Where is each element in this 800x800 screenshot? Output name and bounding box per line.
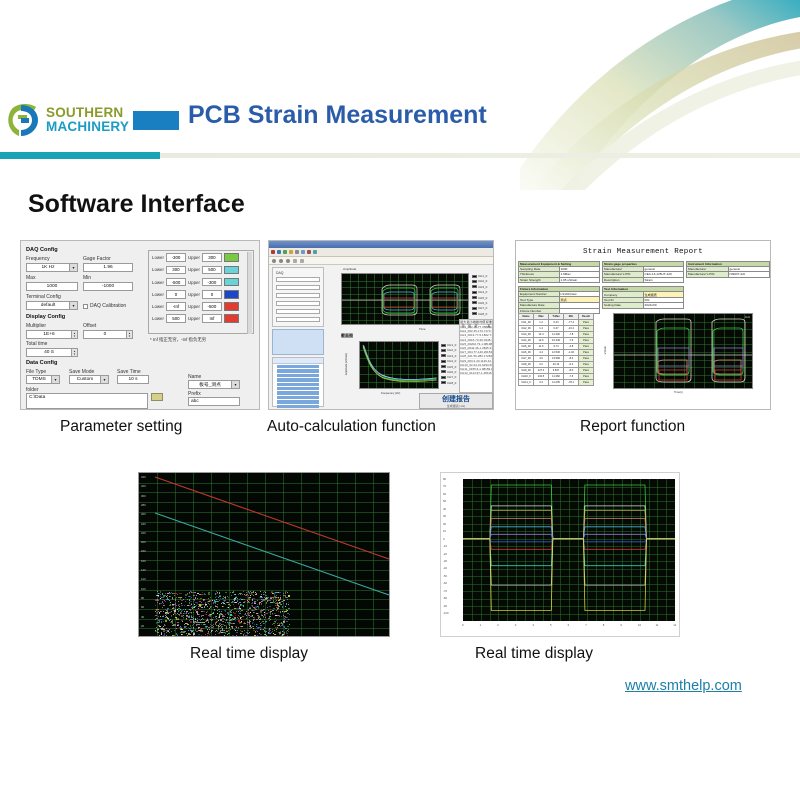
label-offset: Offset	[83, 323, 96, 329]
report-chart-xlabel: Time(s)	[674, 391, 683, 394]
y-tick-label: -60	[443, 581, 447, 585]
table-cell: 15.73	[471, 338, 479, 341]
x-tick-label: 3	[515, 623, 517, 627]
value-total-time: 40 S	[27, 350, 71, 355]
table-cell: CH3_00	[460, 333, 471, 336]
limit-lower-value[interactable]: 500	[166, 314, 186, 323]
x-tick-label: 11	[656, 623, 659, 627]
report-block-instrument: Instrument InformationManufacturergenera…	[686, 261, 770, 278]
table-cell: -146.26	[477, 350, 487, 353]
label-daq-calibration: DAQ Calibration	[90, 303, 126, 309]
limit-upper-value[interactable]: -500	[202, 302, 222, 311]
input-gage-factor[interactable]: 1.96	[83, 263, 133, 272]
input-folder-path[interactable]: C:\Data	[26, 393, 148, 409]
channel-tree-cell[interactable]	[277, 409, 319, 410]
limit-lower-value[interactable]: 300	[166, 266, 186, 275]
channel-tree-cell[interactable]	[277, 387, 319, 390]
settings-pane-title: DAQ	[276, 271, 283, 275]
legend-swatch	[472, 307, 477, 310]
legend-label: CH6_0	[447, 370, 456, 374]
settings-field-4[interactable]	[276, 301, 320, 306]
logo-mark-icon	[6, 101, 42, 139]
group-daq-config: DAQ Config	[26, 247, 58, 253]
create-report-sublabel: 生成报表(.xls)	[447, 404, 466, 408]
table-cell: 116.64	[487, 371, 493, 374]
channel-tree-cell[interactable]	[277, 365, 319, 368]
legend-swatch	[472, 275, 477, 278]
input-prefix[interactable]: abc	[188, 397, 240, 406]
legend-swatch	[441, 376, 446, 379]
legend-item[interactable]: CH2_0	[441, 348, 456, 352]
limits-note: * Inf 指正无穷，-Inf 指负无穷	[150, 337, 206, 343]
chart2-plot-area[interactable]	[463, 479, 675, 621]
channel-tree-cell[interactable]	[277, 400, 319, 403]
legend-item[interactable]: CH4_0	[472, 290, 487, 294]
x-tick-label: 9	[620, 623, 622, 627]
caption-report-function: Report function	[580, 418, 685, 436]
legend-item[interactable]: CH6_0	[441, 370, 456, 374]
title-accent-chip	[133, 111, 179, 130]
spinner-icon[interactable]: ▴▾	[71, 331, 77, 338]
chevron-down-icon[interactable]: ▾	[69, 264, 77, 271]
toolbar-icon-3[interactable]	[283, 250, 287, 254]
input-save-time[interactable]: 10 s	[117, 375, 149, 384]
results-table[interactable]: 最大值最小值峰峰值均值标准差 CH1_002.45-77.3580.02-19.…	[459, 319, 493, 393]
report-value: NI9237-2AI	[728, 272, 770, 277]
limit-lower-label: Lower	[152, 280, 164, 285]
legend-label: CH4_0	[447, 359, 456, 363]
report-block-test: Test InformationCompany生成报表Test ID001Set…	[602, 286, 684, 309]
x-tick-label: 6	[568, 623, 570, 627]
legend-label: CH4_0	[478, 290, 487, 294]
value-frequency: 1K Hz	[27, 265, 69, 270]
report-data-table[interactable]: NameMaxT-MaxMinResultCH1_001.40.44-77.4P…	[518, 313, 594, 386]
limit-color-swatch[interactable]	[224, 253, 239, 262]
table-cell: -1.08	[478, 367, 485, 370]
limit-lower-value[interactable]: -Inf	[166, 302, 186, 311]
table-cell: 202.73	[471, 342, 480, 345]
report-value: 1.65 uStrain	[559, 277, 600, 282]
y-tick-label: 30	[443, 514, 446, 518]
legend-item[interactable]: CH2_0	[472, 279, 487, 283]
report-block-straingage: Strain gage propertiesManufacturergenera…	[602, 261, 684, 283]
limit-upper-value[interactable]: 300	[202, 253, 222, 262]
table-cell: 114.97	[471, 371, 480, 374]
table-cell: -1.48	[480, 371, 487, 374]
legend-swatch	[472, 280, 477, 283]
x-tick-label: 0	[462, 623, 464, 627]
report-value: Strain	[643, 277, 684, 282]
results-col-header: 标准差	[486, 320, 492, 324]
table-cell: 153.91	[487, 350, 493, 353]
chevron-down-icon[interactable]: ▾	[69, 302, 77, 309]
channel-tree-cell[interactable]	[277, 391, 319, 394]
y-tick-label: -70	[443, 589, 447, 593]
section-title: Software Interface	[28, 190, 245, 219]
table-cell: 155.6	[471, 367, 479, 370]
y-tick-label: 20	[443, 522, 446, 526]
limit-upper-value[interactable]: Inf	[202, 314, 222, 323]
input-max[interactable]: 1000	[26, 282, 78, 291]
input-terminal-config[interactable]: default ▾	[26, 301, 78, 310]
legend-label: CH5_0	[478, 296, 487, 300]
limit-upper-value[interactable]: -300	[202, 278, 222, 287]
browse-folder-icon[interactable]	[151, 393, 163, 401]
slide-root: SOUTHERN MACHINERY PCB Strain Measuremen…	[0, 0, 800, 800]
ribbon-stop-icon[interactable]	[279, 259, 283, 263]
value-save-mode: Custom	[70, 377, 100, 382]
table-cell: CH10_0	[460, 363, 471, 366]
limits-table[interactable]: Lower-300Upper300Lower300Upper500Lower-5…	[148, 250, 254, 334]
table-cell: CH4_00	[460, 338, 471, 341]
value-file-type: TDMS	[27, 377, 51, 382]
waveform-chart-top[interactable]	[341, 273, 469, 325]
legend-item[interactable]: CH1_0	[441, 343, 456, 347]
limit-upper-label: Upper	[188, 292, 200, 297]
limit-upper-value[interactable]: 500	[202, 266, 222, 275]
channel-tree-cell[interactable]	[277, 396, 319, 399]
table-cell: 80.02	[485, 325, 493, 328]
input-name[interactable]: 板号_测点 ▾	[188, 380, 240, 389]
legend-label: CH2_0	[478, 279, 487, 283]
label-terminal-config: Terminal Config	[26, 294, 61, 300]
toolbar-icon-7[interactable]	[307, 250, 311, 254]
app-ribbon[interactable]	[269, 257, 493, 265]
y-tick-label: 40	[443, 507, 446, 511]
limit-upper-value[interactable]: 0	[202, 290, 222, 299]
logo-text-line1: SOUTHERN	[46, 106, 129, 120]
channel-tree-cell[interactable]	[277, 378, 319, 381]
decay-chart-legend[interactable]: CH1_0CH2_0CH3_0CH4_0CH5_0CH6_0CH7_0CH8_0	[441, 343, 456, 385]
legend-item[interactable]: CH3_0	[472, 285, 487, 289]
toolbar-icon-4[interactable]	[289, 250, 293, 254]
legend-swatch	[472, 312, 477, 315]
panel-auto-calculation[interactable]: DAQ	[268, 240, 494, 410]
report-key: Strain Strength	[519, 277, 560, 282]
input-save-mode[interactable]: Custom ▾	[69, 375, 109, 384]
report-data-cell: CH11_0	[519, 380, 534, 386]
caption-parameter-setting: Parameter setting	[60, 418, 182, 436]
y-tick-label: 10	[443, 529, 446, 533]
table-cell: 22.71	[485, 333, 493, 336]
label-max: Max	[26, 275, 35, 281]
x-tick-label: 10	[638, 623, 641, 627]
label-gage-factor: Gage Factor	[83, 256, 111, 262]
legend-item[interactable]: CH5_0	[441, 365, 456, 369]
settings-field-5[interactable]	[276, 309, 320, 314]
table-cell: -5.18	[479, 333, 486, 336]
table-cell: -31.92	[477, 363, 486, 366]
panel-report-function[interactable]: Strain Measurement Report Measurement Eq…	[515, 240, 771, 410]
report-key: Description	[603, 277, 644, 282]
table-cell: 45.37	[485, 346, 493, 349]
table-row: Setting Date2021/2/9	[603, 303, 684, 308]
table-cell: 13.77	[471, 333, 479, 336]
table-cell: 198.43	[487, 342, 493, 345]
ribbon-pause-icon[interactable]	[286, 259, 290, 263]
limit-upper-label: Upper	[188, 280, 200, 285]
toolbar-icon-2[interactable]	[277, 250, 281, 254]
limit-lower-label: Lower	[152, 255, 164, 260]
legend-swatch	[441, 370, 446, 373]
company-logo: SOUTHERN MACHINERY	[6, 98, 124, 142]
legend-item[interactable]: CH7_0	[472, 306, 487, 310]
legend-item[interactable]: CH8_0	[441, 381, 456, 385]
x-tick-label: 4	[532, 623, 534, 627]
toolbar-icon-8[interactable]	[313, 250, 317, 254]
decay-chart[interactable]	[359, 341, 439, 389]
caption-realtime-1: Real time display	[190, 645, 308, 663]
group-display-config: Display Config	[26, 314, 65, 320]
value-offset: 0	[84, 332, 126, 337]
x-tick-label: 8	[603, 623, 605, 627]
report-key: Manufacturer's P/N	[687, 272, 729, 277]
value-multiplier: 1E+6	[27, 332, 71, 337]
legend-swatch	[441, 381, 446, 384]
limit-color-swatch[interactable]	[224, 302, 239, 311]
limit-row[interactable]: Lower-500Upper-300	[152, 277, 250, 288]
table-row[interactable]: CH12_0114.97-1.48116.6460.81127.05	[460, 371, 492, 375]
legend-item[interactable]: CH6_0	[472, 301, 487, 305]
limit-lower-value[interactable]: -500	[166, 278, 186, 287]
x-tick-label: 7	[585, 623, 587, 627]
table-row: Strain Strength1.65 uStrain	[519, 277, 600, 282]
y-tick-label: -50	[443, 574, 447, 578]
table-cell: 33.69	[485, 363, 493, 366]
limit-row[interactable]: Lower-300Upper300	[152, 252, 250, 263]
x-tick-label: 2	[497, 623, 499, 627]
header-rule-teal	[0, 152, 160, 159]
checkbox-daq-calibration[interactable]: DAQ Calibration	[83, 303, 126, 309]
chart-top-ylabel: Amplitude	[343, 267, 356, 271]
report-value: 2021/2/9	[643, 303, 684, 308]
y-tick-label: -40	[443, 566, 447, 570]
table-row[interactable]: CH11_03.411.235-78.1Pass	[519, 380, 594, 386]
spinner-icon[interactable]: ▴▾	[71, 349, 77, 356]
app-menubar[interactable]	[269, 241, 493, 248]
chart-realtime-pulses[interactable]: 80706050403020100-10-20-30-40-50-60-70-8…	[440, 472, 680, 637]
checkbox-box-icon[interactable]	[83, 304, 88, 309]
y-tick-label: 70	[443, 484, 446, 488]
app-settings-pane[interactable]: DAQ	[272, 267, 324, 327]
y-tick-label: 80	[443, 477, 446, 481]
table-cell: -1.38	[479, 346, 486, 349]
label-multiplier: Multiplier	[26, 323, 46, 329]
logo-text-line2: MACHINERY	[46, 120, 129, 134]
legend-label: CH7_0	[447, 375, 456, 379]
y-tick-label: -100	[443, 611, 449, 615]
table-cell: CH6_00	[460, 346, 471, 349]
ribbon-open-icon[interactable]	[300, 259, 304, 263]
legend-item[interactable]: CH1_0	[472, 274, 487, 278]
table-cell: CH9_00	[460, 359, 471, 362]
legend-item[interactable]: CH4_0	[441, 359, 456, 363]
table-cell: 284.33	[487, 354, 493, 357]
channel-tree-header	[273, 358, 323, 364]
legend-swatch	[441, 344, 446, 347]
channel-tree-cell[interactable]	[277, 369, 319, 372]
report-data-cell: 11.235	[549, 380, 564, 386]
limit-lower-label: Lower	[152, 316, 164, 321]
create-report-button[interactable]: 创建报告 生成报表(.xls)	[419, 393, 493, 409]
report-chart-ylabel: uStrain	[604, 346, 607, 354]
toolbar-icon-6[interactable]	[301, 250, 305, 254]
app-channel-summary[interactable]	[272, 329, 324, 355]
legend-item[interactable]: CH3_0	[441, 354, 456, 358]
limit-row[interactable]: Lower0Upper0	[152, 289, 250, 300]
table-cell: 46.42	[483, 359, 491, 362]
table-cell: -13.14	[491, 359, 493, 362]
page-title: PCB Strain Measurement	[188, 101, 487, 130]
legend-label: CH8_0	[447, 381, 456, 385]
legend-label: CH3_0	[447, 354, 456, 358]
table-cell: CH1_00	[460, 325, 471, 328]
limit-color-swatch[interactable]	[224, 290, 239, 299]
report-block-equipment: Measurement Equipment & SettingSampling …	[518, 261, 600, 283]
ribbon-save-icon[interactable]	[293, 259, 297, 263]
input-file-type[interactable]: TDMS ▾	[26, 375, 60, 384]
limits-scrollbar[interactable]	[247, 252, 252, 334]
chart-noise-band	[155, 591, 290, 637]
table-cell: -36.03	[479, 338, 488, 341]
ribbon-run-icon[interactable]	[272, 259, 276, 263]
caption-realtime-2: Real time display	[475, 645, 593, 663]
chevron-down-icon[interactable]: ▾	[51, 376, 59, 383]
input-min[interactable]: -1000	[83, 282, 133, 291]
spinner-icon[interactable]: ▴▾	[126, 331, 132, 338]
toolbar-icon-5[interactable]	[295, 250, 299, 254]
table-cell: -280.17	[477, 354, 487, 357]
table-row: Manufacturer's P/NNI9237-2AI	[687, 272, 770, 277]
x-tick-label: 5	[550, 623, 552, 627]
channel-tree-cell[interactable]	[277, 374, 319, 377]
caption-auto-calculation: Auto-calculation function	[267, 418, 436, 436]
limit-lower-value[interactable]: -300	[166, 253, 186, 262]
table-cell: CH11_0	[460, 367, 471, 370]
limit-color-swatch[interactable]	[224, 314, 239, 323]
settings-field-1[interactable]	[276, 277, 320, 282]
limit-lower-value[interactable]: 0	[166, 290, 186, 299]
report-data-cell: -78.1	[564, 380, 579, 386]
legend-label: CH8_0	[478, 312, 487, 316]
settings-field-2[interactable]	[276, 285, 320, 290]
slide-header: SOUTHERN MACHINERY PCB Strain Measuremen…	[0, 86, 800, 158]
limit-lower-label: Lower	[152, 304, 164, 309]
limit-row[interactable]: Lower-InfUpper-500	[152, 301, 250, 312]
table-cell: CH5_00	[460, 342, 471, 345]
y-tick-label: 0	[443, 537, 445, 541]
value-terminal-config: default	[27, 303, 69, 308]
table-cell: 159.18	[485, 367, 493, 370]
create-report-label: 创建报告	[442, 394, 470, 404]
label-frequency: Frequency	[26, 256, 50, 262]
legend-swatch	[472, 296, 477, 299]
table-cell: CH12_0	[460, 371, 471, 374]
settings-field-3[interactable]	[276, 293, 320, 298]
input-total-time[interactable]: 40 S ▴▾	[26, 348, 78, 357]
legend-item[interactable]: CH8_0	[472, 312, 487, 316]
chart-bottom-title: 截面图	[341, 333, 353, 339]
report-block-fixture: Fixture InformationEquipment NumberLS100…	[518, 286, 600, 314]
legend-item[interactable]: CH7_0	[441, 375, 456, 379]
legend-label: CH1_0	[478, 274, 487, 278]
legend-label: CH2_0	[447, 348, 456, 352]
chart-realtime-scatter[interactable]: 3403203002802602402202001801601401201008…	[138, 472, 390, 637]
table-cell: 173.17	[485, 329, 493, 332]
value-folder-path: C:\Data	[29, 395, 45, 400]
limit-upper-label: Upper	[188, 267, 200, 272]
table-cell: -77.35	[477, 325, 486, 328]
chevron-down-icon[interactable]: ▾	[100, 376, 108, 383]
table-row: DescriptionStrain	[603, 277, 684, 282]
results-table-body: CH1_002.45-77.3580.02-19.340.64CH2_002.4…	[460, 325, 492, 375]
legend-label: CH7_0	[478, 306, 487, 310]
limit-upper-label: Upper	[188, 316, 200, 321]
settings-field-6[interactable]	[276, 317, 320, 322]
channel-tree-cells	[273, 365, 323, 410]
chart-top-legend[interactable]: CH1_0CH2_0CH3_0CH4_0CH5_0CH6_0CH7_0CH8_0	[472, 274, 487, 316]
table-cell: -170.7	[477, 329, 486, 332]
legend-label: CH3_0	[478, 285, 487, 289]
toolbar-icon-1[interactable]	[271, 250, 275, 254]
chart-top-xlabel: Time	[419, 327, 426, 331]
legend-label: CH6_0	[478, 301, 487, 305]
table-cell: CH7_00	[460, 350, 471, 353]
table-cell: CH2_00	[460, 329, 471, 332]
table-cell: 42.46	[471, 346, 479, 349]
chart-bottom-ylabel: Amplitude (uStrain)	[345, 353, 348, 375]
report-chart[interactable]: CH1	[613, 313, 753, 389]
limit-color-swatch[interactable]	[224, 266, 239, 275]
chart-bottom-xlabel: Frequency (Hz)	[381, 391, 400, 395]
group-data-config: Data Config	[26, 360, 57, 366]
limit-row[interactable]: Lower500UpperInf	[152, 313, 250, 324]
app-toolbar[interactable]	[269, 248, 493, 257]
channel-tree-cell[interactable]	[277, 405, 319, 408]
report-data-cell: 3.4	[534, 380, 549, 386]
app-channel-tree[interactable]	[272, 357, 324, 407]
legend-swatch	[441, 365, 446, 368]
y-tick-label: -10	[443, 544, 447, 548]
input-frequency[interactable]: 1K Hz ▾	[26, 263, 78, 272]
header-rule-grey	[160, 153, 800, 158]
limit-upper-label: Upper	[188, 304, 200, 309]
legend-item[interactable]: CH5_0	[472, 296, 487, 300]
y-tick-label: 60	[443, 492, 446, 496]
y-tick-label: 50	[443, 499, 446, 503]
legend-swatch	[472, 285, 477, 288]
legend-swatch	[472, 301, 477, 304]
y-tick-label: -80	[443, 596, 447, 600]
legend-swatch	[441, 354, 446, 357]
limit-lower-label: Lower	[152, 292, 164, 297]
table-cell: 48.74	[487, 338, 493, 341]
limit-row[interactable]: Lower300Upper500	[152, 264, 250, 275]
table-cell: -43.11	[475, 359, 483, 362]
input-offset[interactable]: 0 ▴▾	[83, 330, 133, 339]
chevron-down-icon[interactable]: ▾	[231, 381, 239, 388]
label-total-time: Total time	[26, 341, 47, 347]
y-tick-label: -20	[443, 552, 447, 556]
report-key: Setting Date	[603, 303, 644, 308]
input-multiplier[interactable]: 1E+6 ▴▾	[26, 330, 78, 339]
footer-website-link[interactable]: www.smthelp.com	[625, 678, 742, 694]
limits-rows: Lower-300Upper300Lower300Upper500Lower-5…	[149, 252, 253, 324]
x-tick-label: 12	[673, 623, 676, 627]
report-title: Strain Measurement Report	[516, 248, 770, 256]
limit-color-swatch[interactable]	[224, 278, 239, 287]
channel-tree-cell[interactable]	[277, 383, 319, 386]
